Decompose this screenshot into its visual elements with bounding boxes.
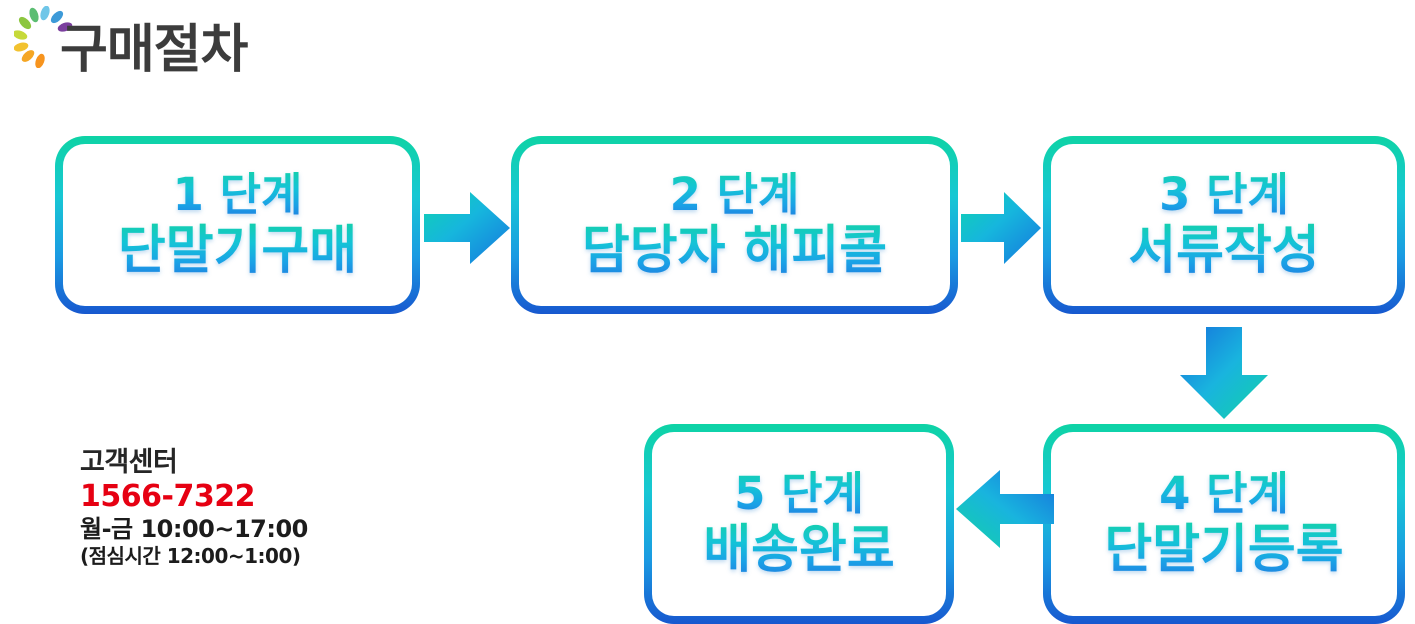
arrow-right-icon [961, 190, 1041, 266]
page-header: 구매절차 [8, 4, 428, 100]
step-5-label: 배송완료 [703, 522, 894, 578]
step-2-label: 담당자 해피콜 [582, 223, 887, 279]
step-card-3[interactable]: 3 단계 서류작성 [1043, 136, 1405, 314]
step-3-stage: 3 단계 [1159, 171, 1289, 220]
step-card-4[interactable]: 4 단계 단말기등록 [1043, 424, 1405, 624]
arrow-right-icon [424, 190, 510, 266]
arrow-down-icon [1176, 327, 1272, 419]
step-3-label: 서류작성 [1128, 223, 1319, 279]
step-4-stage: 4 단계 [1159, 470, 1289, 519]
step-1-label: 단말기구매 [118, 223, 357, 279]
step-card-1[interactable]: 1 단계 단말기구매 [55, 136, 420, 314]
page-title: 구매절차 [60, 24, 247, 76]
step-5-stage: 5 단계 [734, 470, 864, 519]
step-card-5[interactable]: 5 단계 배송완료 [644, 424, 954, 624]
arrow-left-icon [956, 468, 1054, 550]
step-2-stage: 2 단계 [670, 171, 800, 220]
customer-center-lunch-hours: (점심시간 12:00~1:00) [80, 544, 380, 568]
customer-center-hours: 월-금 10:00~17:00 [80, 515, 380, 544]
step-4-label: 단말기등록 [1104, 522, 1343, 578]
customer-center-block: 고객센터 1566-7322 월-금 10:00~17:00 (점심시간 12:… [80, 447, 380, 569]
customer-center-phone[interactable]: 1566-7322 [80, 479, 380, 515]
step-card-2[interactable]: 2 단계 담당자 해피콜 [511, 136, 958, 314]
step-1-stage: 1 단계 [173, 171, 303, 220]
customer-center-title: 고객센터 [80, 447, 380, 479]
